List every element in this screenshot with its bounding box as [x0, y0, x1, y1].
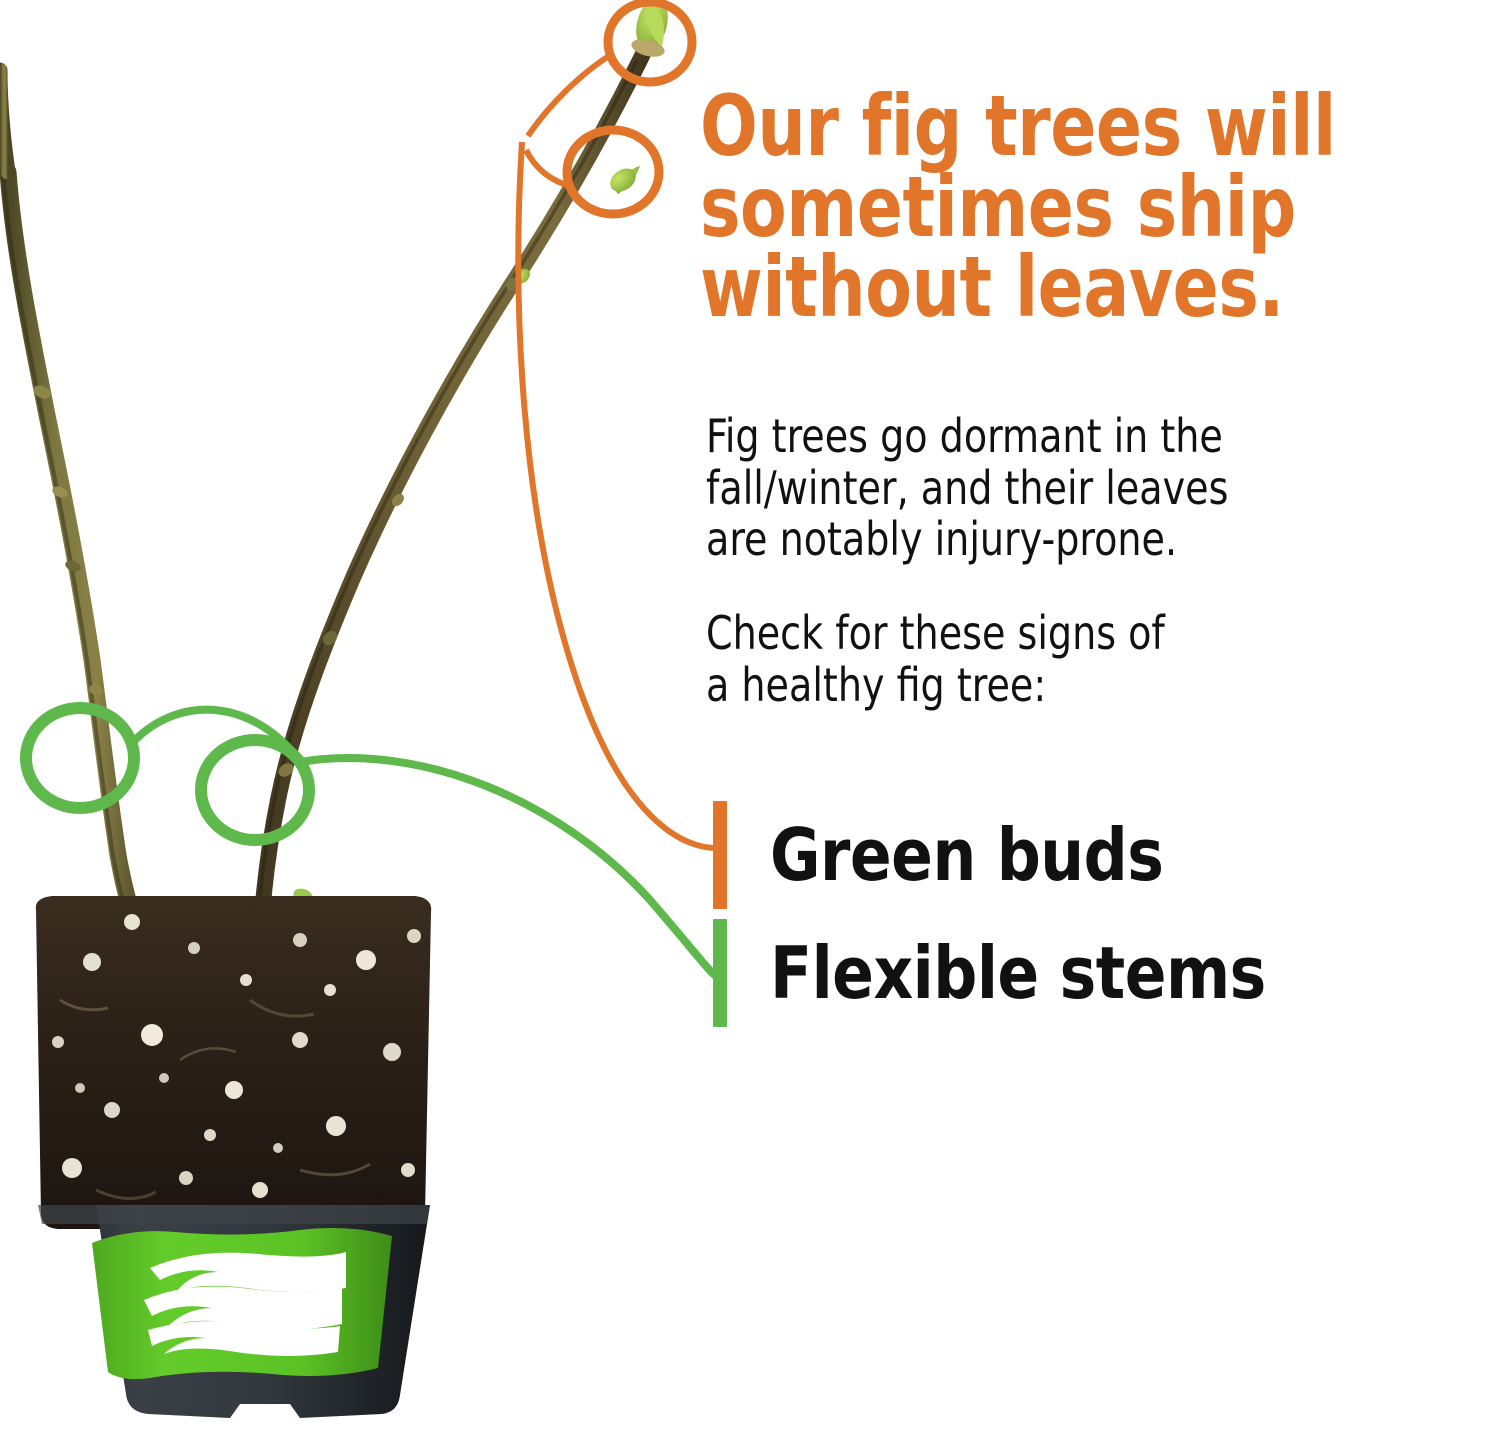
body-paragraph-check: Check for these signs of a healthy fig t…	[706, 608, 1433, 711]
green-bud-top	[630, 0, 673, 60]
text-column: Our fig trees will sometimes ship withou…	[700, 86, 1480, 328]
nursery-pot	[38, 1205, 430, 1418]
infographic-canvas: Our fig trees will sometimes ship withou…	[0, 0, 1500, 1450]
green-marker-bar	[713, 919, 727, 1027]
left-stem	[0, 70, 146, 952]
list-item: Flexible stems	[700, 913, 1460, 1031]
healthy-signs-list: Green buds Flexible stems	[700, 795, 1460, 1031]
soil	[36, 896, 431, 1231]
sign-label-green-buds: Green buds	[770, 801, 1163, 909]
body-paragraph-dormancy: Fig trees go dormant in the fall/winter,…	[706, 411, 1433, 566]
page-title: Our fig trees will sometimes ship withou…	[700, 86, 1402, 328]
right-stem	[256, 24, 655, 952]
green-bud-lower	[606, 164, 640, 197]
orange-marker-bar	[713, 801, 727, 909]
list-item: Green buds	[700, 795, 1460, 913]
sign-label-flexible-stems: Flexible stems	[770, 919, 1266, 1027]
fig-tree-photo	[0, 0, 760, 1450]
